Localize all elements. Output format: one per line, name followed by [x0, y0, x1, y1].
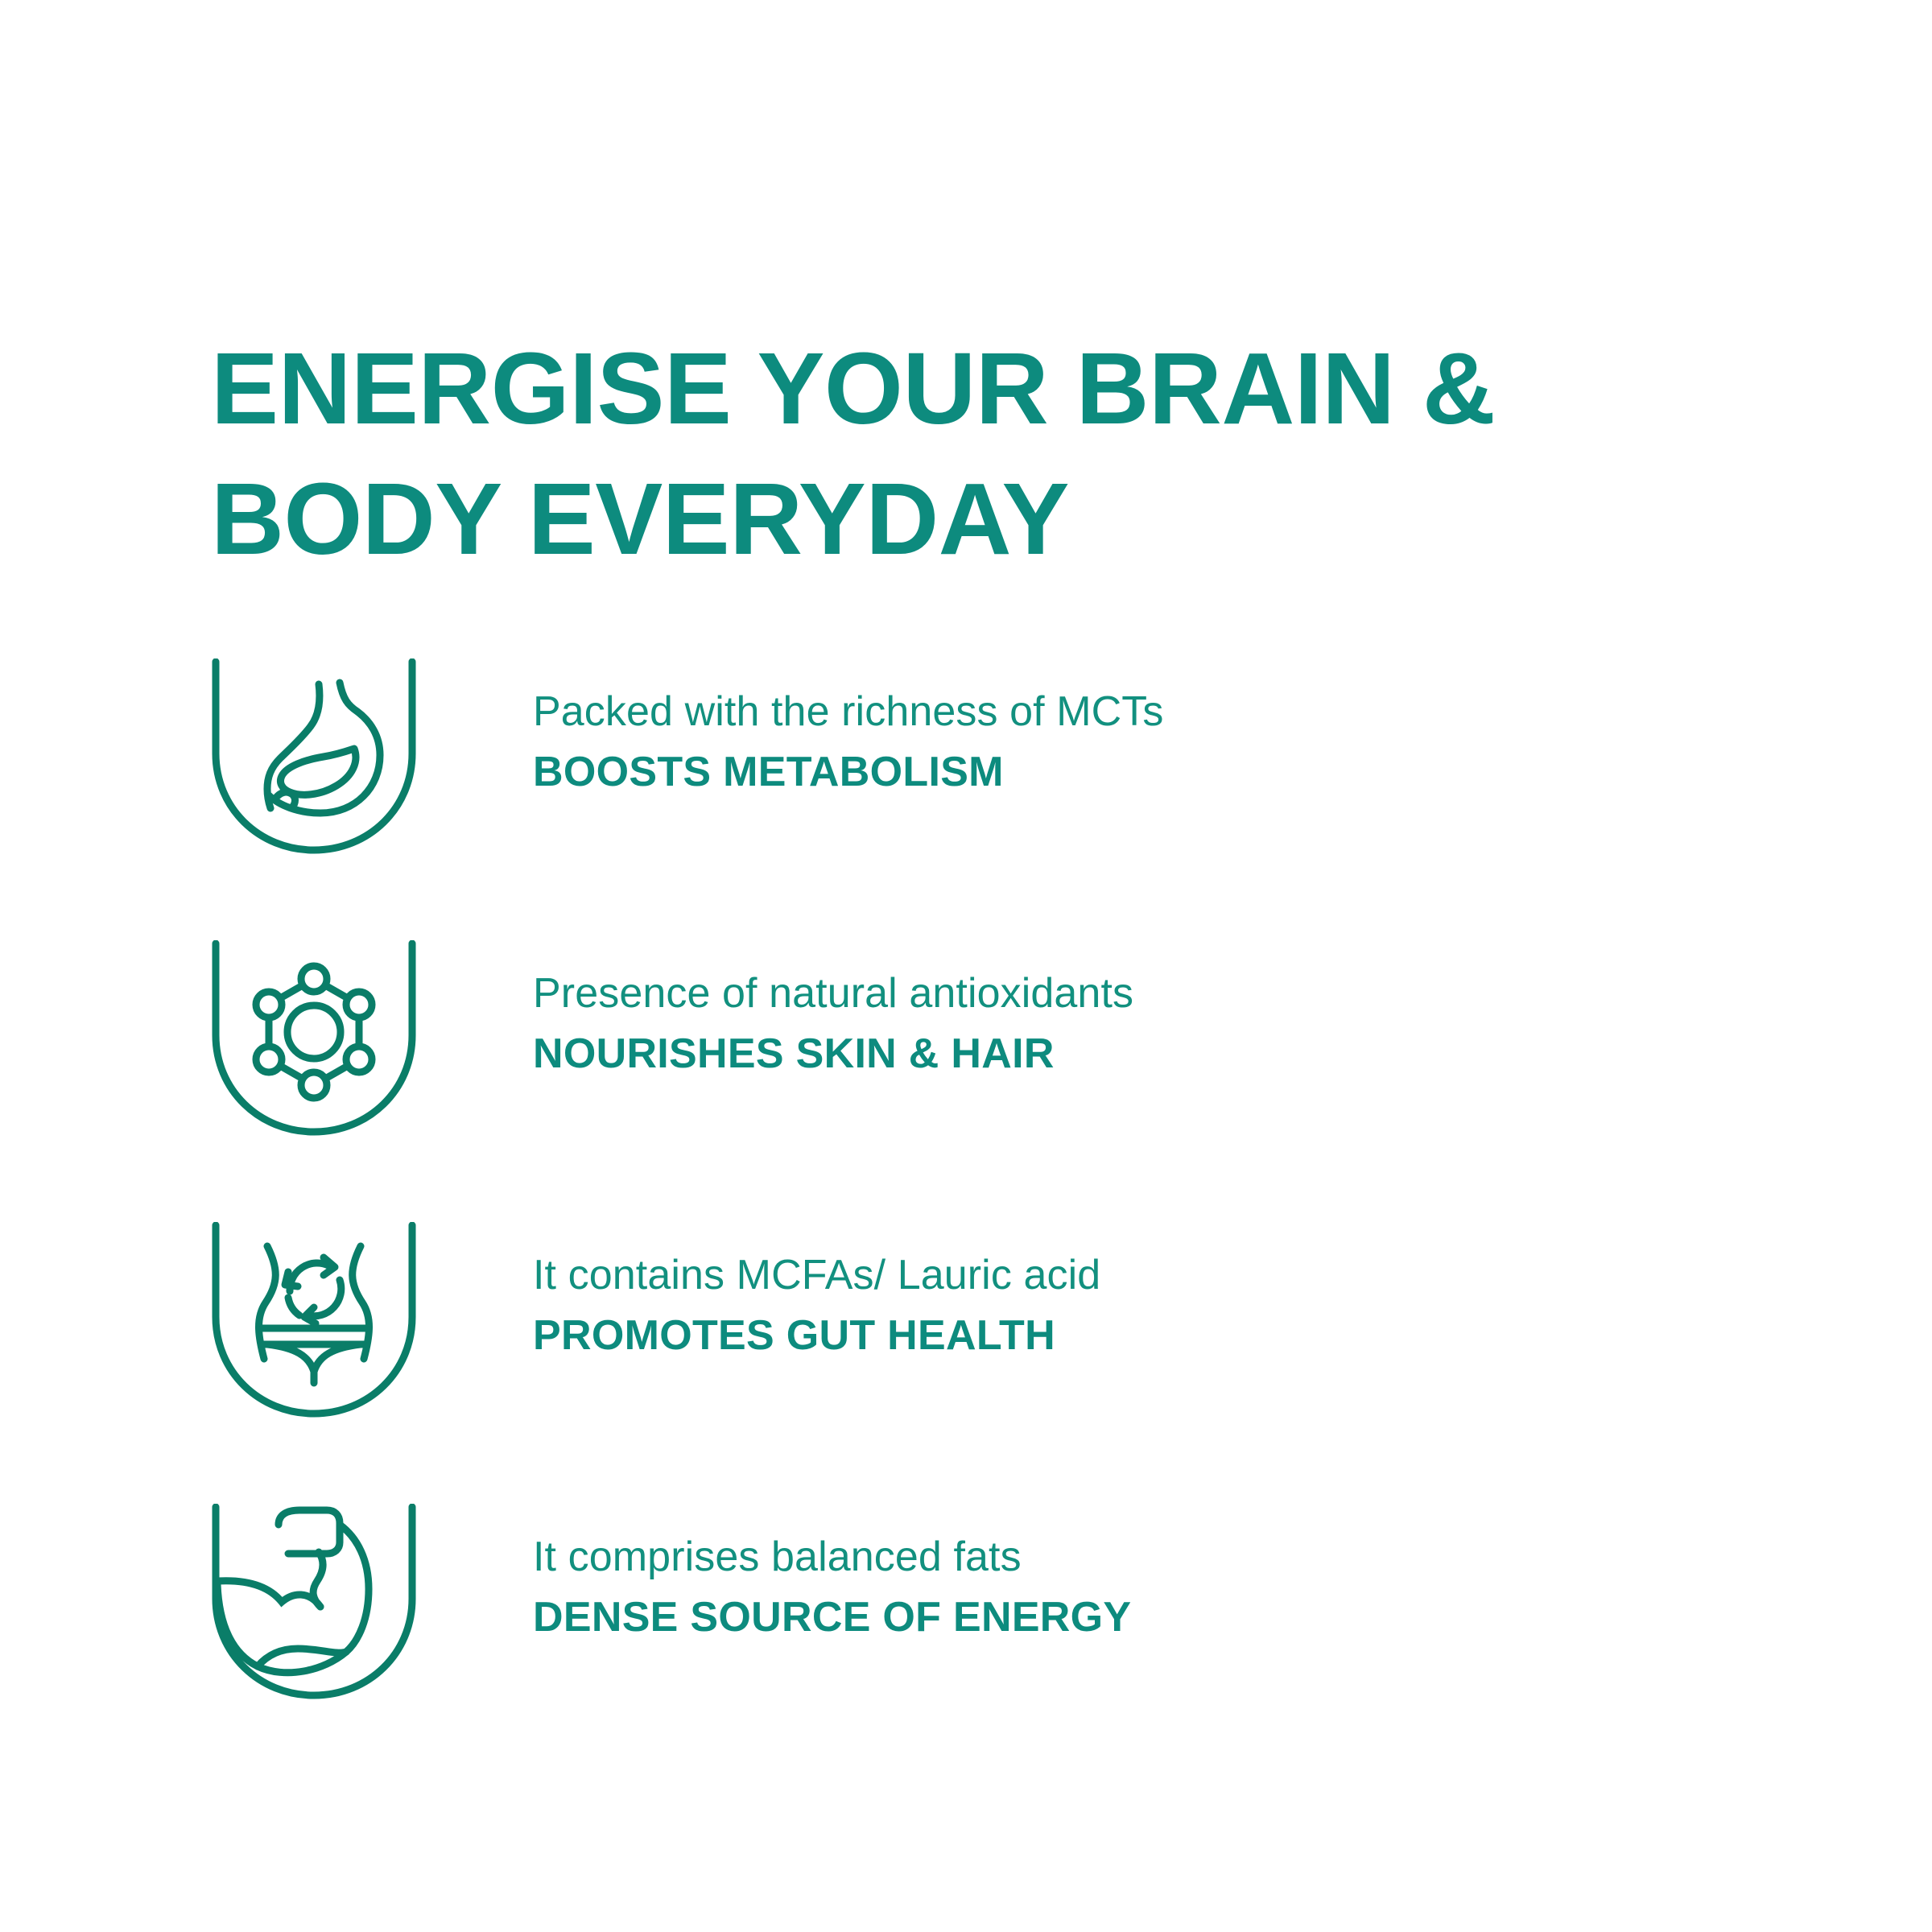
headline-line-2: BODY EVERYDAY	[211, 454, 1660, 584]
molecule-hexagon-icon	[211, 940, 417, 1137]
feature-description: Packed with the richness of MCTs	[533, 687, 1660, 737]
feature-text: It comprises balanced fats DENSE SOURCE …	[533, 1533, 1660, 1643]
feature-benefit: DENSE SOURCE OF ENERGY	[533, 1593, 1660, 1642]
feature-description: It comprises balanced fats	[533, 1533, 1660, 1582]
stomach-icon	[211, 658, 417, 855]
infographic-canvas: ENERGISE YOUR BRAIN & BODY EVERYDAY	[0, 0, 1932, 1932]
feature-description: It contains MCFAs/ Lauric acid	[533, 1251, 1660, 1300]
feature-benefit: BOOSTS METABOLISM	[533, 748, 1660, 797]
feature-text: Packed with the richness of MCTs BOOSTS …	[533, 687, 1660, 798]
flexed-bicep-icon	[211, 1504, 417, 1700]
feature-description: Presence of natural antioxidants	[533, 969, 1660, 1018]
feature-benefit: NOURISHES SKIN & HAIR	[533, 1030, 1660, 1079]
headline-line-1: ENERGISE YOUR BRAIN &	[211, 324, 1660, 453]
feature-row: Packed with the richness of MCTs BOOSTS …	[211, 658, 1821, 940]
feature-list: Packed with the richness of MCTs BOOSTS …	[211, 658, 1821, 1713]
page-title: ENERGISE YOUR BRAIN & BODY EVERYDAY	[211, 324, 1660, 584]
waist-digestion-cycle-icon	[211, 1222, 417, 1418]
feature-row: It comprises balanced fats DENSE SOURCE …	[211, 1504, 1821, 1713]
feature-text: It contains MCFAs/ Lauric acid PROMOTES …	[533, 1251, 1660, 1361]
feature-row: It contains MCFAs/ Lauric acid PROMOTES …	[211, 1222, 1821, 1504]
feature-text: Presence of natural antioxidants NOURISH…	[533, 969, 1660, 1080]
feature-row: Presence of natural antioxidants NOURISH…	[211, 940, 1821, 1222]
feature-benefit: PROMOTES GUT HEALTH	[533, 1311, 1660, 1360]
